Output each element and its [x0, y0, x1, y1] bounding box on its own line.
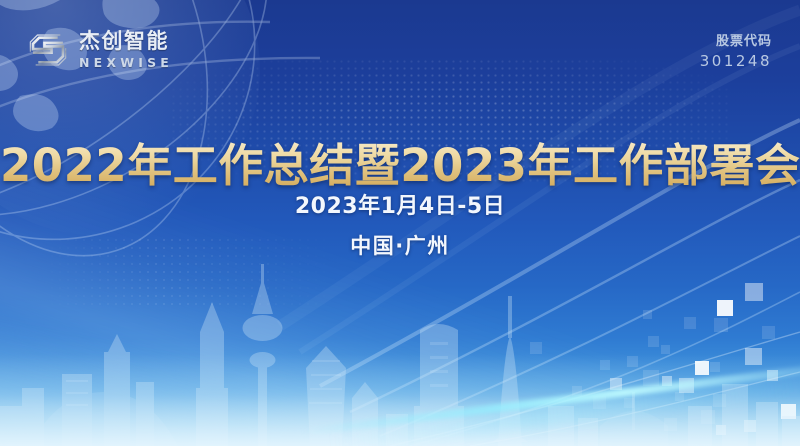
- square-particle: [745, 283, 763, 301]
- event-date: 2023年1月4日-5日: [0, 188, 800, 220]
- square-particle: [781, 404, 796, 419]
- event-location: 中国·广州: [0, 230, 800, 260]
- square-particle: [695, 361, 709, 375]
- square-particle: [717, 300, 733, 316]
- nexwise-cube-logo-icon: [26, 28, 70, 72]
- stock-code-label: 股票代码: [700, 33, 772, 51]
- square-particle: [530, 342, 542, 354]
- square-particle: [762, 326, 775, 339]
- cyan-light-beam: [302, 360, 800, 436]
- square-particle: [643, 310, 652, 319]
- stock-code-block: 股票代码 301248: [700, 33, 772, 71]
- square-particle: [716, 425, 726, 435]
- square-particle: [684, 317, 696, 329]
- square-particle: [627, 356, 638, 367]
- square-particle: [701, 410, 715, 424]
- square-particle: [662, 376, 672, 386]
- square-particle: [714, 318, 728, 332]
- page-title: 2022年工作总结暨2023年工作部署会议: [0, 129, 800, 194]
- square-particle: [675, 392, 684, 401]
- square-particle: [713, 394, 726, 407]
- cyan-light-beam-glow: [331, 375, 800, 446]
- ground-mist-fade: [0, 354, 800, 446]
- square-particle: [710, 362, 720, 372]
- square-particle: [679, 378, 694, 393]
- square-particle: [593, 396, 606, 409]
- brand-logo[interactable]: 杰创智能 NEXWISE: [26, 28, 173, 72]
- brand-name-en: NEXWISE: [79, 57, 173, 70]
- stock-code-value: 301248: [700, 51, 772, 71]
- square-particle: [661, 345, 670, 354]
- brand-name-cn: 杰创智能: [79, 31, 173, 52]
- square-particle: [572, 386, 582, 396]
- square-particle: [767, 370, 778, 381]
- conference-banner: 杰创智能 NEXWISE 股票代码 301248 2022年工作总结暨2023年…: [0, 0, 800, 446]
- brand-wordmark: 杰创智能 NEXWISE: [79, 31, 173, 70]
- square-particle: [610, 378, 622, 390]
- square-particle: [648, 336, 659, 347]
- square-particle: [624, 398, 634, 408]
- square-particle: [600, 360, 610, 370]
- square-particle: [744, 420, 756, 432]
- square-particle: [664, 418, 677, 431]
- square-particle: [745, 348, 762, 365]
- square-particle: [643, 370, 659, 386]
- city-skyline-silhouette: [0, 256, 800, 446]
